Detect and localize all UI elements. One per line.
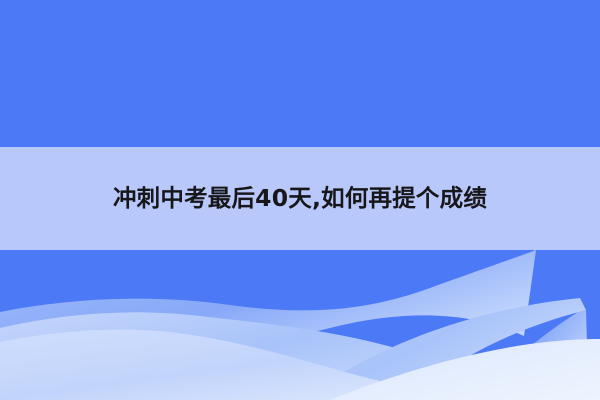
page-title: 冲刺中考最后40天,如何再提个成绩 [113,186,487,212]
banner-graphic: 冲刺中考最后40天,如何再提个成绩 [0,0,600,400]
bottom-wave-band [0,250,600,400]
top-color-band [0,0,600,147]
title-band: 冲刺中考最后40天,如何再提个成绩 [0,147,600,250]
wave-decoration-svg [0,250,600,400]
